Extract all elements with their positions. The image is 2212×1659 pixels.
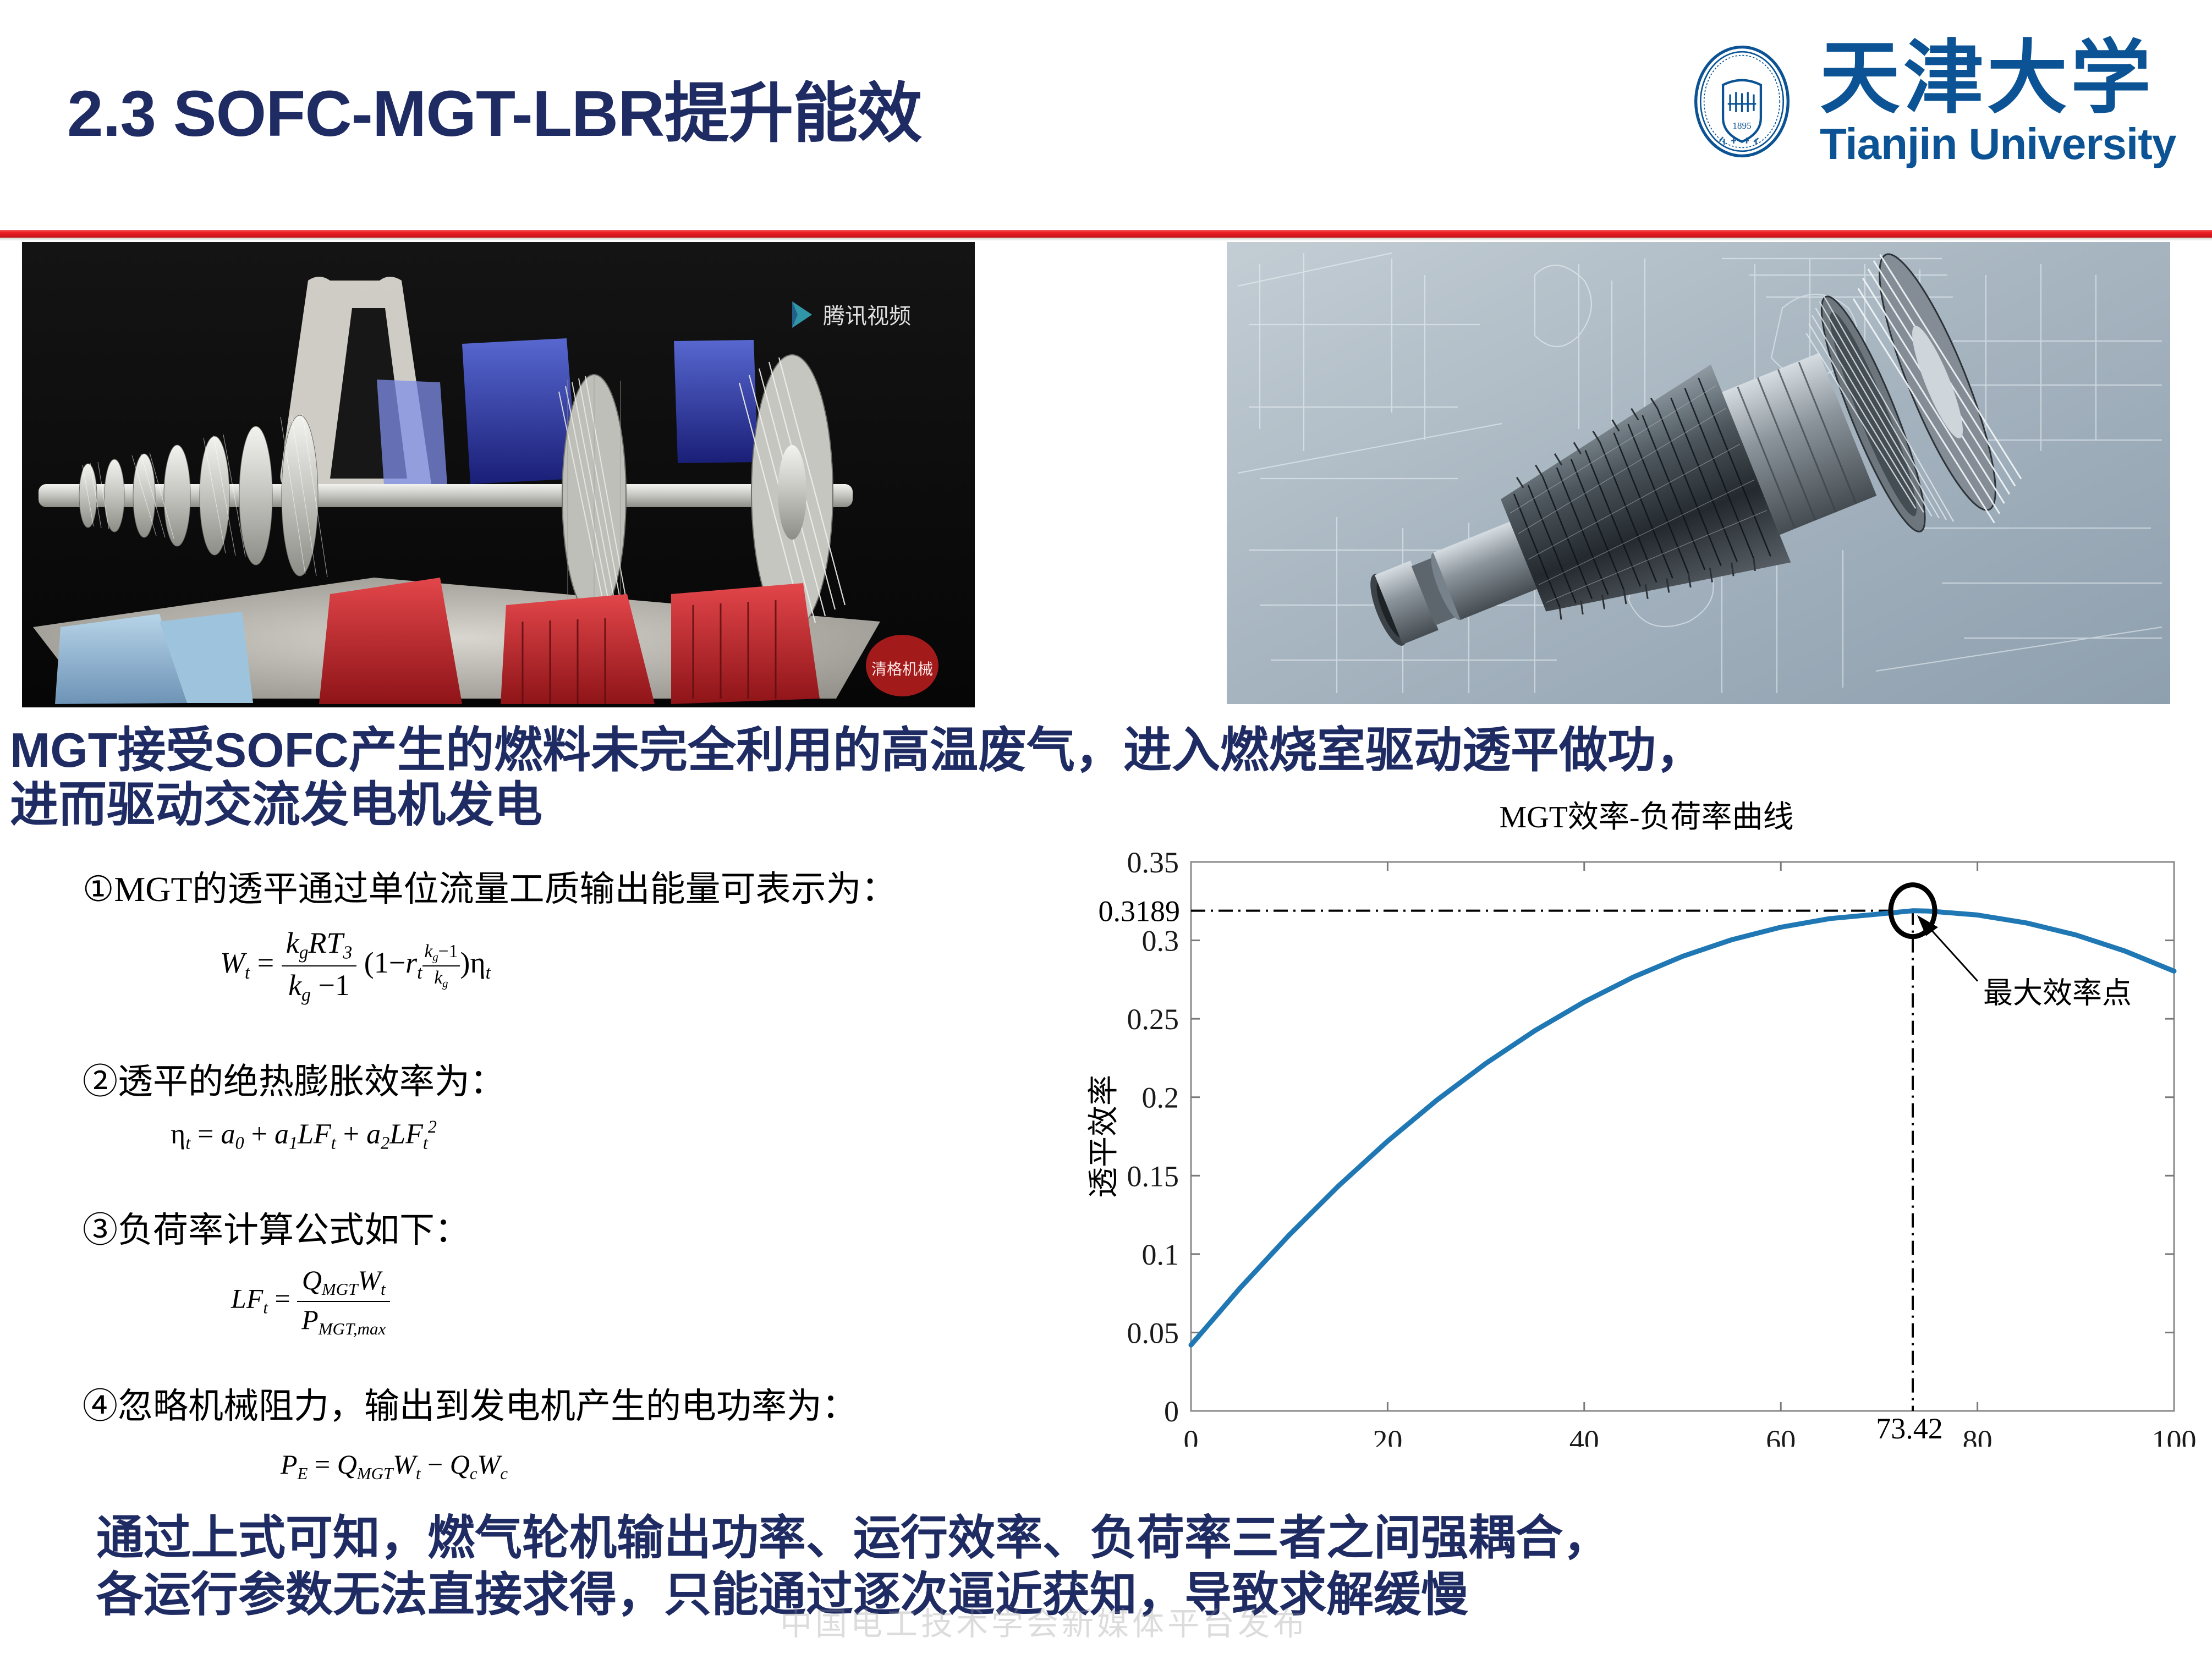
y-tick-label: 0.25 — [1127, 1003, 1179, 1036]
y-tick-label: 0.3 — [1142, 925, 1179, 958]
x-tick-label: 80 — [1963, 1424, 1993, 1447]
chart-plot: 020406080100 00.050.10.150.20.250.30.35 … — [1081, 792, 2212, 1447]
max-point-label: 最大效率点 — [1983, 977, 2132, 1010]
x-tick-label: 100 — [2152, 1424, 2197, 1447]
turbine-rotor-image — [1227, 242, 2170, 704]
tju-seal-icon: 1895 — [1683, 42, 1801, 161]
page-title: 2.3 SOFC-MGT-LBR提升能效 — [67, 61, 921, 155]
turbine-cutaway-image: 腾讯视频 清格机械 — [22, 242, 975, 707]
conclusion-text: 通过上式可知，燃气轮机输出功率、运行效率、负荷率三者之间强耦合， 各运行参数无法… — [96, 1510, 2132, 1623]
formula-turbine-work: Wt = kgRT3 kg −1 (1−rt kg−1 kg )ηt — [220, 926, 491, 1006]
list-item: ①MGT的透平通过单位流量工质输出能量可表示为： — [83, 869, 897, 910]
item-text-3: 负荷率计算公式如下： — [118, 1211, 470, 1250]
y-tick-labels: 00.050.10.150.20.250.30.35 — [1127, 846, 1179, 1428]
svg-text:天津大学: 天津大学 — [1820, 36, 2154, 123]
manufacturer-seal: 清格机械 — [866, 635, 938, 696]
y-tick-label: 0.15 — [1127, 1160, 1179, 1193]
y-tick-label: 0.05 — [1127, 1316, 1179, 1349]
y-tick-label: 0.1 — [1142, 1238, 1179, 1271]
x-tick-label: 60 — [1766, 1424, 1796, 1447]
x-tick-label: 0 — [1184, 1424, 1199, 1447]
item-marker-3: ③ — [83, 1211, 118, 1250]
svg-text:清格机械: 清格机械 — [871, 661, 933, 678]
max-point-y-value: 0.3189 — [1099, 895, 1181, 928]
item-text-2: 透平的绝热膨胀效率为： — [118, 1062, 505, 1101]
y-tick-label: 0 — [1164, 1395, 1179, 1428]
item-text-1: MGT的透平通过单位流量工质输出能量可表示为： — [114, 870, 896, 909]
formula-load-factor: LFt = QMGTWt PMGT,max — [231, 1264, 390, 1339]
mgt-efficiency-chart: MGT效率-负荷率曲线 020406080100 00.050.10.150.2… — [1081, 792, 2212, 1447]
list-item: ③负荷率计算公式如下： — [83, 1210, 470, 1251]
x-tick-label: 40 — [1569, 1424, 1599, 1447]
item-marker-4: ④ — [83, 1387, 118, 1426]
y-axis-label: 透平效率 — [1087, 1075, 1121, 1198]
headline-line-1: MGT接受SOFC产生的燃料未完全利用的高温废气，进入燃烧室驱动透平做功， — [10, 723, 1704, 777]
seal-year: 1895 — [1732, 120, 1751, 130]
header-divider-shadow — [0, 238, 2212, 241]
conclusion-line-1: 通过上式可知，燃气轮机输出功率、运行效率、负荷率三者之间强耦合， — [96, 1510, 2132, 1567]
list-item: ④忽略机械阻力，输出到发电机产生的电功率为： — [83, 1386, 857, 1427]
plot-frame — [1191, 862, 2174, 1411]
item-marker-2: ② — [83, 1062, 118, 1101]
svg-text:腾讯视频: 腾讯视频 — [823, 304, 911, 328]
y-tick-label: 0.35 — [1127, 846, 1179, 879]
logo-cn-icon: 天津大学 — [1820, 36, 2188, 124]
formula-electric-power: PE = QMGTWt − QcWc — [281, 1448, 508, 1484]
y-tick-label: 0.2 — [1142, 1081, 1179, 1114]
logo-en-text: Tianjin University — [1820, 122, 2176, 166]
item-marker-1: ① — [83, 870, 114, 909]
conclusion-line-2: 各运行参数无法直接求得，只能通过逐次逼近获知，导致求解缓慢 — [96, 1567, 2132, 1623]
x-tick-label: 20 — [1373, 1424, 1402, 1447]
list-item: ②透平的绝热膨胀效率为： — [83, 1062, 505, 1102]
item-text-4: 忽略机械阻力，输出到发电机产生的电功率为： — [118, 1387, 857, 1426]
slide-root: 2.3 SOFC-MGT-LBR提升能效 1895 — [0, 0, 2212, 1659]
x-tick-labels: 020406080100 — [1184, 1424, 2197, 1447]
slide-header: 2.3 SOFC-MGT-LBR提升能效 1895 — [0, 0, 2212, 234]
header-divider — [0, 230, 2212, 238]
max-point-x-value: 73.42 — [1876, 1412, 1943, 1445]
formula-adiabatic-efficiency: ηt = a0 + a1LFt + a2LFt2 — [171, 1117, 437, 1153]
university-logo: 1895 天津大学 Tianjin University — [1683, 19, 2189, 184]
